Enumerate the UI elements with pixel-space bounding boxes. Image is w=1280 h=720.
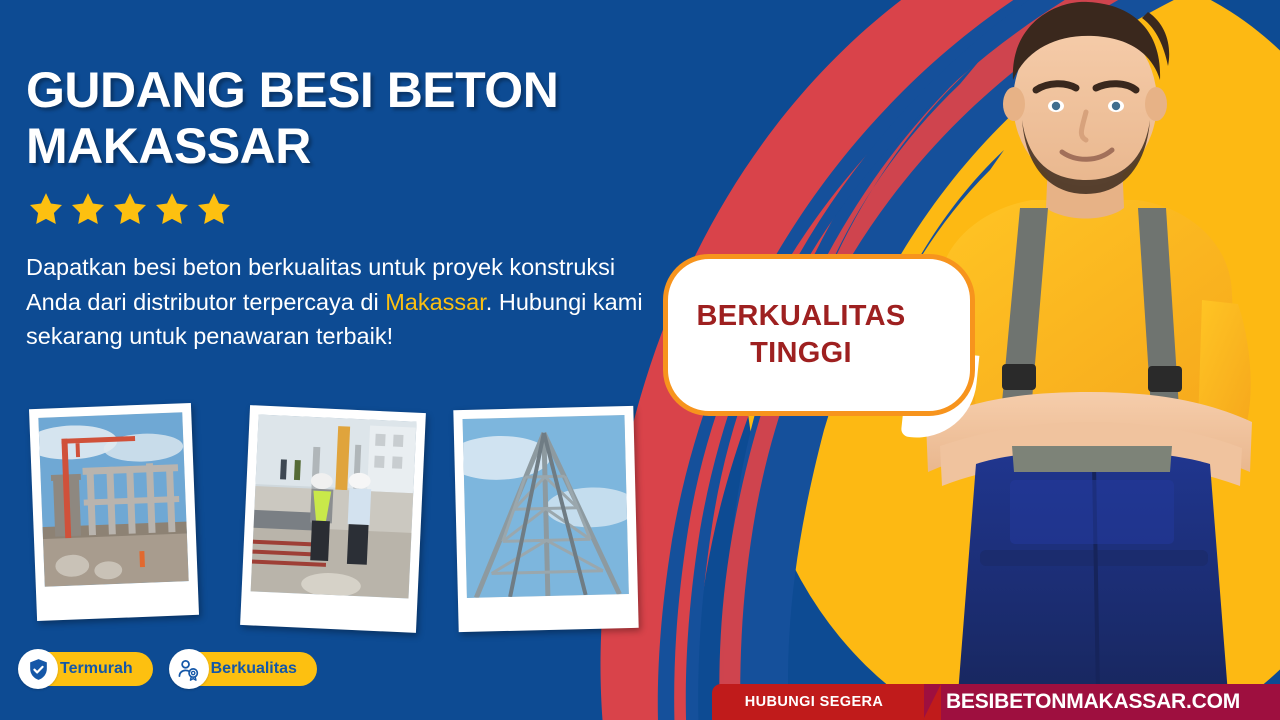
- badge-berkualitas[interactable]: Berkualitas: [171, 652, 317, 686]
- photo-image-construction-frame-crane: [38, 412, 188, 586]
- badge-label-berkualitas: Berkualitas: [211, 660, 297, 678]
- speech-bubble-line-1: BERKUALITAS: [697, 300, 906, 332]
- star-icon: [195, 190, 233, 228]
- speech-bubble: BERKUALITAS TINGGI: [663, 254, 975, 416]
- star-icon: [69, 190, 107, 228]
- lede-highlight-makassar: Makassar: [385, 289, 486, 315]
- star-icon: [153, 190, 191, 228]
- cta-label: HUBUNGI SEGERA: [745, 694, 884, 710]
- feature-badges: Termurah Berkualitas: [20, 652, 317, 686]
- lede-paragraph: Dapatkan besi beton berkualitas untuk pr…: [26, 250, 651, 354]
- star-rating: [27, 190, 233, 228]
- speech-bubble-line-2: TINGGI: [750, 337, 852, 369]
- user-award-icon: [169, 649, 209, 689]
- badge-label-termurah: Termurah: [60, 660, 133, 678]
- website-url-label: BESIBETONMAKASSAR.COM: [946, 690, 1240, 714]
- star-icon: [27, 190, 65, 228]
- shield-check-icon: [18, 649, 58, 689]
- photo-card-steel-truss: [453, 406, 638, 632]
- website-url-bar[interactable]: BESIBETONMAKASSAR.COM: [906, 684, 1280, 720]
- badge-termurah[interactable]: Termurah: [20, 652, 153, 686]
- page-title: GUDANG BESI BETON MAKASSAR: [26, 62, 646, 174]
- photo-gallery: [0, 398, 670, 658]
- star-icon: [111, 190, 149, 228]
- speech-bubble-text: BERKUALITAS TINGGI: [683, 298, 920, 372]
- cta-contact-bar[interactable]: HUBUNGI SEGERA: [712, 684, 924, 720]
- photo-card-construction-frame-crane: [29, 403, 199, 621]
- photo-card-site-workers: [240, 405, 426, 633]
- photo-image-steel-truss: [463, 415, 629, 598]
- photo-image-site-workers: [251, 415, 417, 599]
- promo-banner: GUDANG BESI BETON MAKASSAR Dapatkan besi…: [0, 0, 1280, 720]
